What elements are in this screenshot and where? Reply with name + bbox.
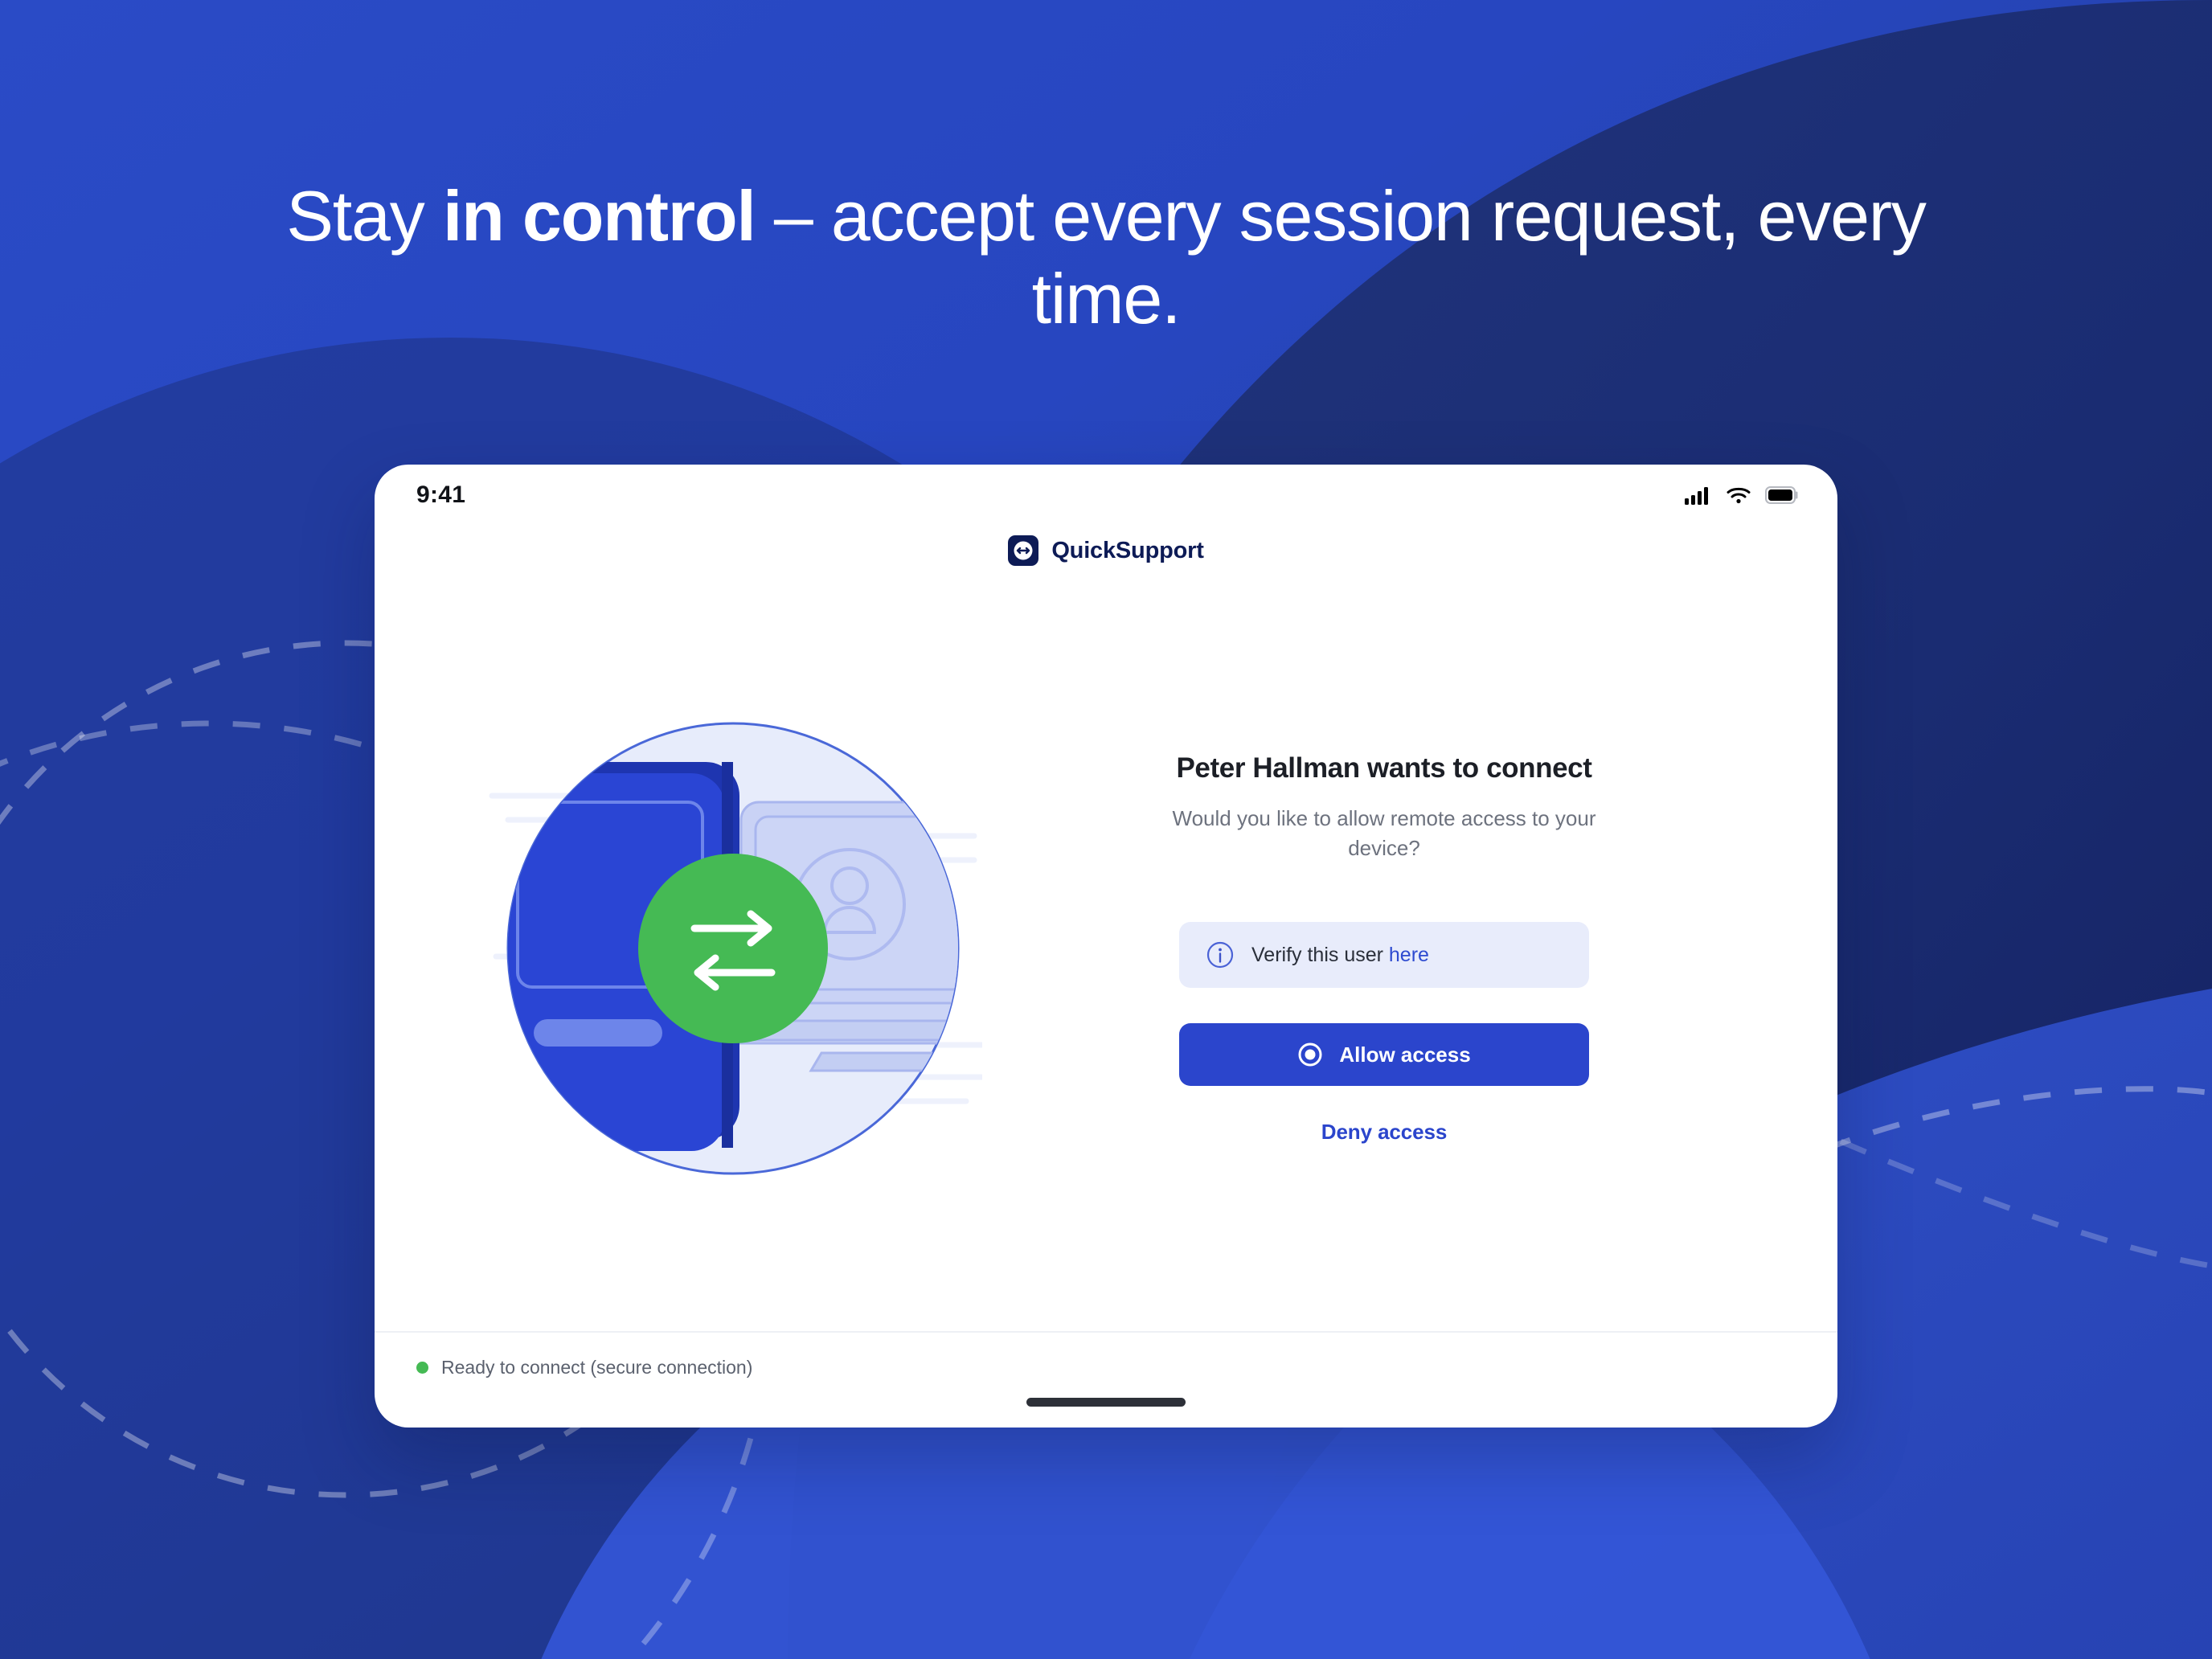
panel-subtitle: Would you like to allow remote access to… <box>1159 804 1609 863</box>
headline-emphasis: in control <box>443 176 756 256</box>
verify-user-banner[interactable]: Verify this user here <box>1179 922 1589 988</box>
verify-banner-text: Verify this user here <box>1251 944 1429 967</box>
quicksupport-logo-icon <box>1008 535 1038 566</box>
status-bar-clock: 9:41 <box>416 481 465 509</box>
brand-lockup: QuickSupport <box>1008 535 1203 566</box>
home-indicator-bar[interactable] <box>1026 1398 1186 1407</box>
bidirectional-transfer-icon <box>638 854 828 1043</box>
page-headline: Stay in control – accept every session r… <box>0 175 2212 341</box>
tablet-content: Peter Hallman wants to connect Would you… <box>375 566 1837 1331</box>
status-bar: 9:41 <box>375 465 1837 526</box>
info-circle-icon <box>1206 941 1234 969</box>
tablet-footer: Ready to connect (secure connection) <box>375 1331 1837 1428</box>
tablet-mockup: 9:41 <box>375 465 1837 1428</box>
connection-request-panel: Peter Hallman wants to connect Would you… <box>1014 752 1786 1145</box>
battery-icon <box>1765 486 1799 504</box>
verify-here-link[interactable]: here <box>1389 944 1429 966</box>
connection-status-text: Ready to connect (secure connection) <box>441 1357 752 1378</box>
wifi-icon <box>1727 486 1751 504</box>
brand-name: QuickSupport <box>1051 538 1203 564</box>
app-brand-bar: QuickSupport <box>375 526 1837 566</box>
promo-slide: Stay in control – accept every session r… <box>0 0 2212 1659</box>
allow-access-button[interactable]: Allow access <box>1179 1023 1589 1086</box>
deny-access-button[interactable]: Deny access <box>1321 1120 1447 1145</box>
headline-part-1: Stay <box>286 176 443 256</box>
online-dot-icon <box>416 1362 428 1374</box>
allow-access-label: Allow access <box>1339 1043 1470 1067</box>
panel-title: Peter Hallman wants to connect <box>1176 752 1591 784</box>
radio-selected-icon <box>1297 1042 1323 1067</box>
illustration-svg <box>484 699 982 1198</box>
headline-part-2: – accept every session request, every ti… <box>756 176 1926 338</box>
cellular-signal-icon <box>1685 485 1712 505</box>
remote-connection-illustration <box>452 699 1014 1198</box>
connection-status: Ready to connect (secure connection) <box>416 1357 1837 1378</box>
status-bar-icons <box>1685 485 1799 505</box>
verify-banner-label: Verify this user <box>1251 944 1383 966</box>
